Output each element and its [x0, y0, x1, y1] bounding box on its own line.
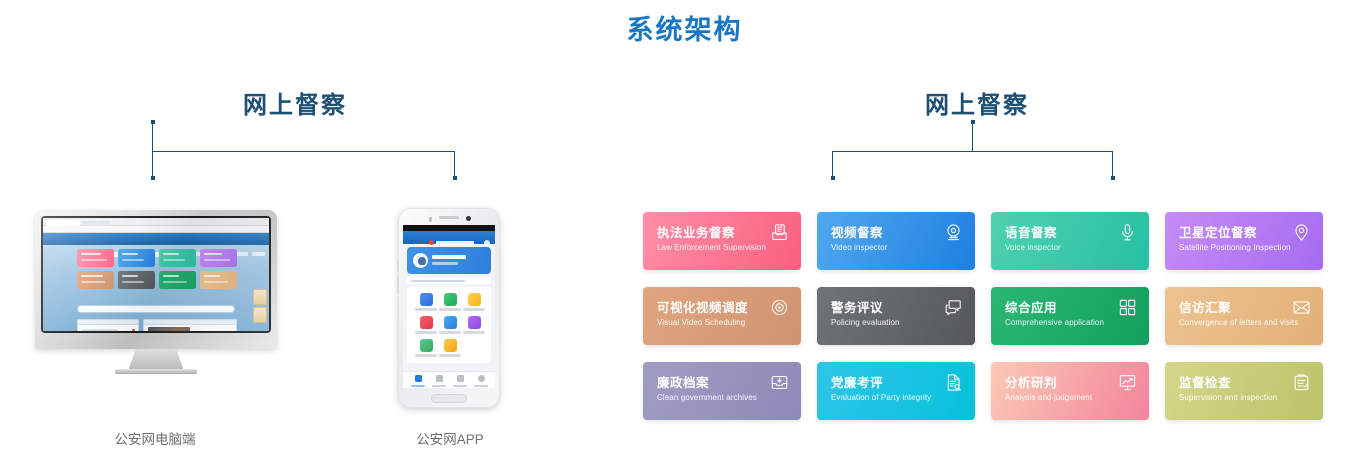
device-label-pc: 公安网电脑端: [45, 428, 265, 448]
phone-sensor-dots: [429, 217, 436, 220]
app-tile-label: [415, 354, 437, 357]
connector-tree-right: [810, 120, 1150, 195]
app-tab-tasks: [430, 375, 448, 388]
function-card[interactable]: 分析研判Analysis and judgement: [991, 362, 1149, 420]
function-card-title-cn: 廉政档案: [657, 372, 709, 391]
app-user-card: [407, 247, 491, 274]
function-card[interactable]: 卫星定位督察Satellite Positioning Inspection: [1165, 212, 1323, 270]
function-card-title-cn: 监督检查: [1179, 372, 1231, 391]
phone-home-button: [431, 394, 467, 403]
mini-panel-row: [82, 329, 118, 331]
connector-tree-left: [130, 120, 470, 195]
clipboard-check-icon: [1292, 373, 1311, 392]
monitor-stand-neck: [128, 349, 184, 371]
connector-stem: [152, 122, 153, 152]
phone-body: [398, 208, 500, 408]
mini-card-title: [81, 253, 101, 255]
app-tile-icon: [444, 293, 457, 306]
mini-card-title: [122, 253, 138, 255]
connector-crossbar: [152, 151, 455, 152]
function-card-title-en: Clean government archives: [657, 393, 757, 402]
microphone-icon: [1118, 223, 1137, 242]
grid-squares-icon: [1118, 298, 1137, 317]
phone-front-camera-icon: [466, 216, 471, 221]
function-card-grid: 执法业务督察Law Enforcement Supervision视频督察Vid…: [643, 212, 1359, 424]
app-tile-label: [415, 331, 437, 334]
mini-panel-header: [144, 320, 236, 325]
function-card[interactable]: 党廉考评Evaluation of Party integrity: [817, 362, 975, 420]
mini-card: [118, 249, 155, 267]
app-tile-icon: [420, 293, 433, 306]
app-tab-label: [432, 385, 446, 387]
phone-recents-button: [476, 396, 481, 401]
function-card-title-en: Evaluation of Party integrity: [831, 393, 931, 402]
function-card-title-en: Convergence of letters and visits: [1179, 318, 1298, 327]
archive-tray-icon: [770, 373, 789, 392]
function-card[interactable]: 警务评议Policing evaluation: [817, 287, 975, 345]
webcam-icon: [944, 223, 963, 242]
mini-panel: [77, 319, 139, 331]
function-card-title-en: Video inspector: [831, 243, 888, 252]
desktop-monitor-icon: [35, 210, 277, 370]
browser-tabbar: [43, 218, 269, 226]
document-search-icon: [944, 373, 963, 392]
app-tile-icon: [444, 316, 457, 329]
function-card-title-cn: 视频督察: [831, 222, 883, 241]
function-card[interactable]: 廉政档案Clean government archives: [643, 362, 801, 420]
task-icon: [436, 375, 443, 382]
mobile-phone-icon: [398, 208, 500, 408]
app-tab-label: [474, 385, 488, 387]
app-title: [436, 241, 474, 245]
mini-card-sub: [81, 281, 105, 283]
mini-card-sub: [122, 281, 144, 283]
function-card[interactable]: 综合应用Comprehensive application: [991, 287, 1149, 345]
connector-node-right: [1111, 176, 1115, 180]
function-card-title-cn: 可视化视频调度: [657, 297, 748, 316]
mini-card-title: [204, 253, 222, 255]
app-grid-item: [437, 338, 463, 364]
app-tab-reports: [451, 375, 469, 388]
function-card-title-cn: 信访汇聚: [1179, 297, 1231, 316]
mini-card: [159, 249, 196, 267]
app-notice-bar: [407, 277, 491, 284]
mini-panel-header: [78, 320, 138, 325]
monitor-inner-frame: [41, 216, 271, 333]
app-tile-icon: [420, 339, 433, 352]
function-card-title-cn: 分析研判: [1005, 372, 1057, 391]
function-card-title-en: Comprehensive application: [1005, 318, 1104, 327]
connector-node-left: [831, 176, 835, 180]
browser-urlbar: [43, 226, 269, 233]
function-card[interactable]: 信访汇聚Convergence of letters and visits: [1165, 287, 1323, 345]
mini-card-title: [81, 275, 103, 277]
app-tile-icon: [444, 339, 457, 352]
phone-side-button: [397, 260, 399, 272]
function-card-title-cn: 卫星定位督察: [1179, 222, 1257, 241]
connector-crossbar: [832, 151, 1113, 152]
function-card-title-en: Policing evaluation: [831, 318, 900, 327]
mini-card: [200, 271, 237, 289]
function-card[interactable]: 监督检查Supervision and inspection: [1165, 362, 1323, 420]
mini-card: [118, 271, 155, 289]
function-card-title-cn: 综合应用: [1005, 297, 1057, 316]
function-card-title-en: Supervision and inspection: [1179, 393, 1277, 402]
mini-card: [77, 271, 114, 289]
mini-badge: [132, 329, 135, 331]
mini-card-title: [122, 275, 138, 277]
connector-node-left: [151, 176, 155, 180]
mini-float-button: [253, 289, 267, 305]
connector-leg-right: [1112, 151, 1113, 177]
app-tile-icon: [420, 316, 433, 329]
function-card-title-en: Analysis and judgement: [1005, 393, 1092, 402]
report-icon: [457, 375, 464, 382]
connector-stem: [972, 122, 973, 152]
device-label-app: 公安网APP: [350, 428, 550, 448]
app-logo-icon: [429, 240, 434, 245]
system-architecture-diagram: 系统架构 网上督察 网上督察: [0, 0, 1369, 473]
mini-card-sub: [122, 259, 144, 261]
section-heading-right: 网上督察: [925, 85, 1029, 120]
app-message-icon: [484, 240, 490, 246]
function-card-title-cn: 党廉考评: [831, 372, 883, 391]
connector-leg-left: [152, 151, 153, 177]
mini-card-title: [163, 275, 179, 277]
app-tile-icon: [468, 316, 481, 329]
mini-card-title: [204, 275, 220, 277]
app-tile-label: [463, 308, 485, 311]
app-tile-label: [439, 331, 461, 334]
app-tabbar: [403, 371, 495, 388]
inbox-document-icon: [770, 223, 789, 242]
app-tab-label: [411, 385, 425, 387]
app-tile-icon: [468, 293, 481, 306]
avatar: [413, 253, 428, 268]
mini-card-sub: [163, 259, 185, 261]
connector-leg-right: [454, 151, 455, 177]
mini-panel: [143, 319, 237, 331]
app-header: [403, 231, 495, 244]
home-icon: [415, 375, 422, 382]
user-name: [432, 255, 466, 259]
site-header: [43, 233, 269, 245]
notice-text: [411, 280, 465, 283]
mini-card-sub: [81, 259, 107, 261]
user-subtitle: [432, 262, 458, 265]
envelope-icon: [1292, 298, 1311, 317]
monitor-stand-foot: [115, 369, 197, 374]
mini-card-sub: [204, 259, 230, 261]
phone-screen: [403, 225, 495, 388]
mini-search-input: [77, 305, 235, 313]
site-dashboard: [43, 245, 269, 331]
gear-icon: [478, 375, 485, 382]
function-card-title-en: Visual Video Scheduling: [657, 318, 745, 327]
app-tile-label: [439, 308, 461, 311]
function-card[interactable]: 语音督察Voice inspector: [991, 212, 1149, 270]
function-card[interactable]: 可视化视频调度Visual Video Scheduling: [643, 287, 801, 345]
section-heading-left: 网上督察: [243, 85, 347, 120]
phone-side-button: [397, 276, 399, 294]
mini-card-title: [163, 253, 179, 255]
map-pin-icon: [1292, 223, 1311, 242]
app-tab-home: [409, 375, 427, 388]
app-tab-label: [453, 385, 467, 387]
mini-card: [200, 249, 237, 267]
app-tab-settings: [472, 375, 490, 388]
mini-card: [77, 249, 114, 267]
monitor-bezel: [35, 210, 277, 349]
monitor-screen: [43, 218, 269, 331]
mini-float-button: [253, 307, 267, 323]
function-card-title-en: Law Enforcement Supervision: [657, 243, 766, 252]
page-title: 系统架构: [0, 8, 1369, 47]
phone-back-button: [418, 396, 423, 401]
browser-tab-inactive: [82, 221, 110, 226]
app-tile-label: [439, 354, 461, 357]
function-card[interactable]: 视频督察Video inspector: [817, 212, 975, 270]
mini-thumbnail-image: [148, 327, 190, 331]
mini-card-sub: [204, 281, 228, 283]
function-card-title-en: Voice inspector: [1005, 243, 1061, 252]
function-card[interactable]: 执法业务督察Law Enforcement Supervision: [643, 212, 801, 270]
function-card-title-cn: 执法业务督察: [657, 222, 735, 241]
mini-card: [159, 271, 196, 289]
connector-node-right: [453, 176, 457, 180]
phone-earpiece: [439, 216, 459, 219]
function-card-title-cn: 语音督察: [1005, 222, 1057, 241]
eye-target-icon: [770, 298, 789, 317]
mini-card-sub: [163, 281, 187, 283]
app-grid-item: [413, 338, 439, 364]
app-icon-grid: [407, 287, 491, 363]
connector-leg-left: [832, 151, 833, 177]
chat-bubbles-icon: [944, 298, 963, 317]
app-tile-label: [415, 308, 437, 311]
function-card-title-cn: 警务评议: [831, 297, 883, 316]
app-grid-item: [461, 315, 487, 341]
function-card-title-en: Satellite Positioning Inspection: [1179, 243, 1291, 252]
chart-board-icon: [1118, 373, 1137, 392]
app-tile-label: [463, 331, 485, 334]
